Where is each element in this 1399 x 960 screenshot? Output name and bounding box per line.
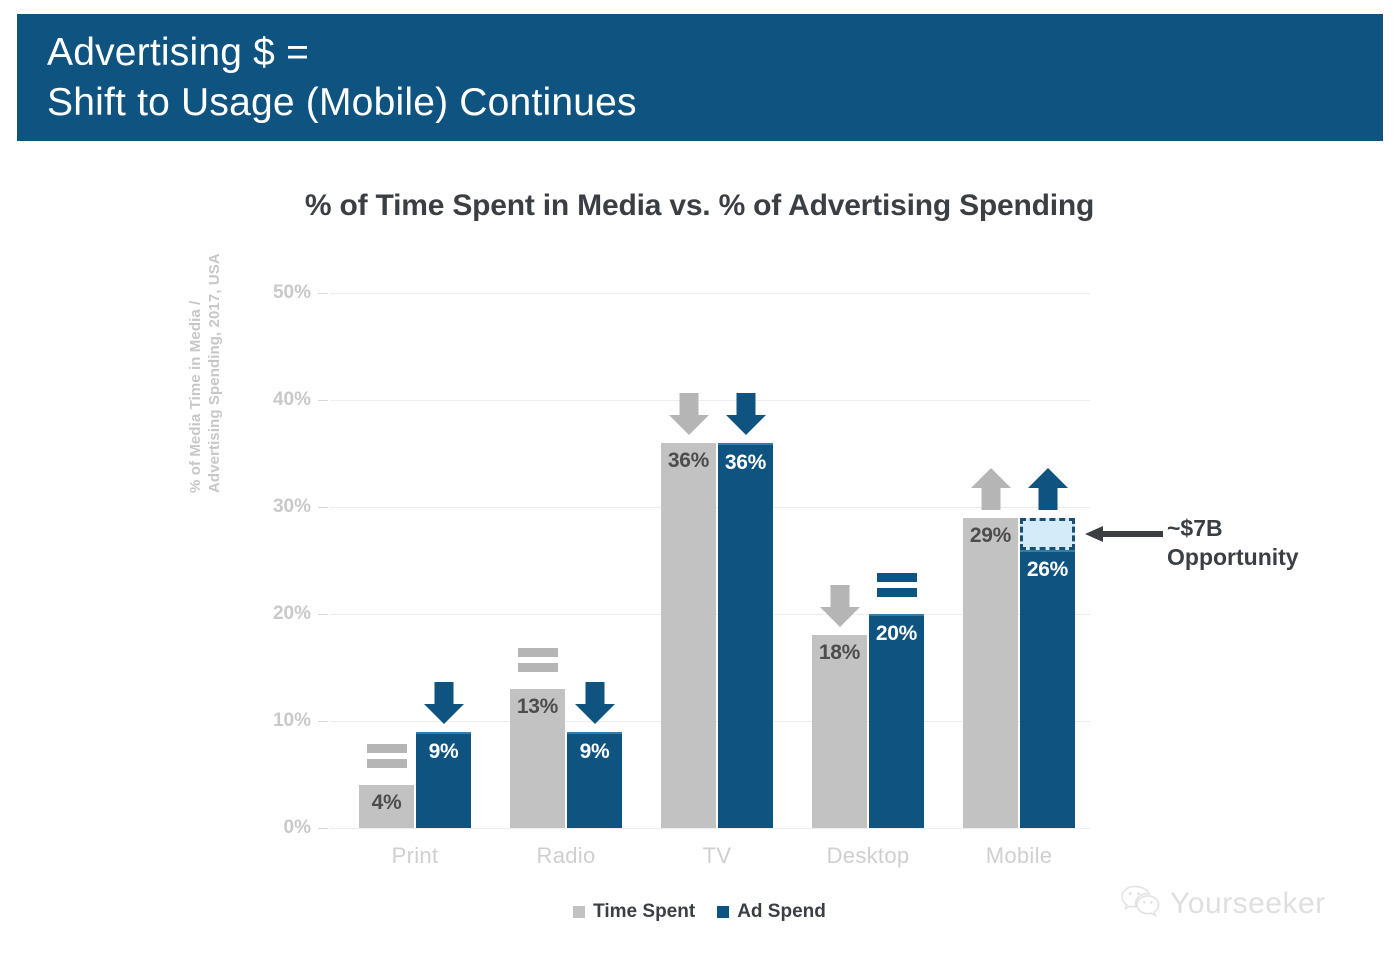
bar-value-label: 20% bbox=[869, 622, 924, 646]
x-axis-label-desktop: Desktop bbox=[788, 843, 948, 869]
x-axis-label-print: Print bbox=[335, 843, 495, 869]
watermark: Yourseeker bbox=[1120, 884, 1326, 923]
y-axis-tick bbox=[318, 293, 328, 294]
legend-item-ad-spend[interactable]: Ad Spend bbox=[717, 901, 826, 923]
bar-radio-time-spent[interactable]: 13% bbox=[510, 689, 565, 828]
opportunity-leader-arrow-icon bbox=[1085, 524, 1163, 544]
arrow-up-icon bbox=[969, 466, 1013, 512]
equals-icon bbox=[365, 733, 409, 779]
legend-swatch bbox=[573, 906, 585, 918]
y-axis-tick bbox=[318, 721, 328, 722]
x-axis-label-radio: Radio bbox=[486, 843, 646, 869]
arrow-down-icon bbox=[667, 391, 711, 437]
gridline bbox=[330, 828, 1090, 829]
bar-mobile-ad-spend[interactable]: 26% bbox=[1020, 550, 1075, 828]
bar-value-label: 29% bbox=[963, 524, 1018, 548]
watermark-label: Yourseeker bbox=[1170, 887, 1326, 921]
bar-desktop-time-spent[interactable]: 18% bbox=[812, 635, 867, 828]
y-axis-tick bbox=[318, 400, 328, 401]
bar-value-label: 26% bbox=[1020, 558, 1075, 582]
legend-item-time-spent[interactable]: Time Spent bbox=[573, 901, 695, 923]
bar-radio-ad-spend[interactable]: 9% bbox=[567, 732, 622, 828]
plot-area: 0%10%20%30%40%50%4%9%13%9%36%36%18%20%29… bbox=[330, 293, 1090, 828]
bar-value-label: 18% bbox=[812, 641, 867, 665]
x-axis-label-mobile: Mobile bbox=[939, 843, 1099, 869]
y-axis-tick-label: 40% bbox=[251, 389, 311, 411]
chart-container: % of Time Spent in Media vs. % of Advert… bbox=[0, 141, 1399, 960]
bar-value-label: 4% bbox=[359, 791, 414, 815]
y-axis-tick-label: 30% bbox=[251, 496, 311, 518]
bar-value-label: 9% bbox=[567, 740, 622, 764]
opportunity-callout-label: ~$7B Opportunity bbox=[1167, 514, 1299, 572]
y-axis-title: % of Media Time in Media / Advertising S… bbox=[186, 193, 224, 493]
page-title: Advertising $ = Shift to Usage (Mobile) … bbox=[47, 28, 637, 128]
bar-print-ad-spend[interactable]: 9% bbox=[416, 732, 471, 828]
y-axis-tick-label: 50% bbox=[251, 282, 311, 304]
y-axis-tick bbox=[318, 828, 328, 829]
bar-value-label: 9% bbox=[416, 740, 471, 764]
equals-icon bbox=[875, 562, 919, 608]
opportunity-box bbox=[1020, 518, 1075, 550]
x-axis-label-tv: TV bbox=[637, 843, 797, 869]
bar-tv-ad-spend[interactable]: 36% bbox=[718, 443, 773, 828]
wechat-icon bbox=[1120, 884, 1160, 923]
arrow-down-icon bbox=[422, 680, 466, 726]
equals-icon bbox=[516, 637, 560, 683]
bar-mobile-time-spent[interactable]: 29% bbox=[963, 518, 1018, 828]
bar-desktop-ad-spend[interactable]: 20% bbox=[869, 614, 924, 828]
header-banner: Advertising $ = Shift to Usage (Mobile) … bbox=[17, 14, 1383, 141]
arrow-down-icon bbox=[818, 583, 862, 629]
arrow-down-icon bbox=[573, 680, 617, 726]
arrow-up-icon bbox=[1026, 466, 1070, 512]
legend-label: Ad Spend bbox=[737, 901, 826, 923]
bar-value-label: 36% bbox=[718, 451, 773, 475]
gridline bbox=[330, 293, 1090, 294]
bar-print-time-spent[interactable]: 4% bbox=[359, 785, 414, 828]
bar-tv-time-spent[interactable]: 36% bbox=[661, 443, 716, 828]
y-axis-tick-label: 20% bbox=[251, 603, 311, 625]
y-axis-tick bbox=[318, 614, 328, 615]
y-axis-tick bbox=[318, 507, 328, 508]
y-axis-tick-label: 0% bbox=[251, 817, 311, 839]
y-axis-tick-label: 10% bbox=[251, 710, 311, 732]
bar-value-label: 13% bbox=[510, 695, 565, 719]
legend-label: Time Spent bbox=[593, 901, 695, 923]
legend-swatch bbox=[717, 906, 729, 918]
arrow-down-icon bbox=[724, 391, 768, 437]
bar-value-label: 36% bbox=[661, 449, 716, 473]
